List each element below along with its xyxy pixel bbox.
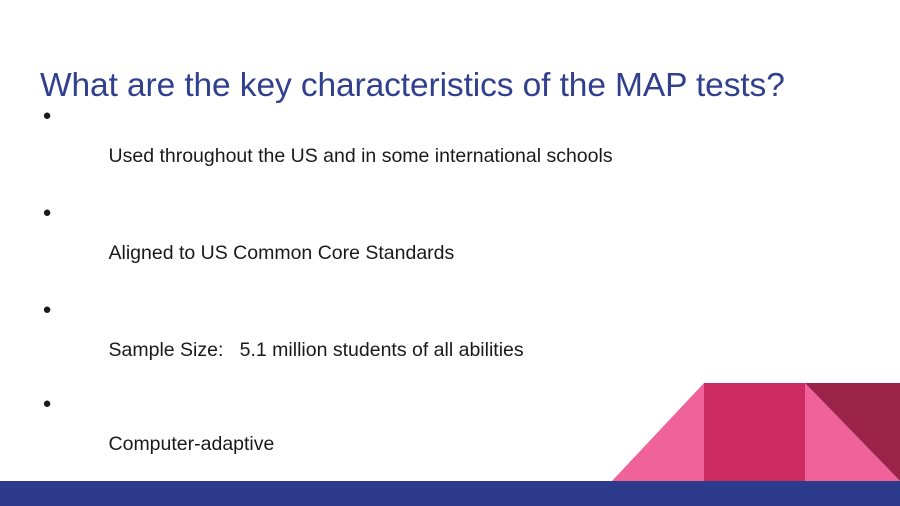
footer-accent-bar <box>0 481 900 506</box>
bullet-dot-icon: ● <box>40 108 54 123</box>
center-magenta-block <box>704 383 805 481</box>
list-item: ● Aligned to US Common Core Standards <box>36 205 796 283</box>
list-item-label: Used throughout the US and in some inter… <box>109 147 613 167</box>
page-title: What are the key characteristics of the … <box>40 68 870 105</box>
decoration-svg <box>612 383 900 481</box>
bullet-dot-icon: ● <box>40 396 54 411</box>
left-pink-triangle <box>612 383 704 481</box>
bullet-dot-icon: ● <box>40 205 54 220</box>
slide-canvas: What are the key characteristics of the … <box>0 0 900 506</box>
geometric-triangles-decoration <box>612 383 900 481</box>
list-item-label: Sample Size: 5.1 million students of all… <box>109 341 524 361</box>
bullet-dot-icon: ● <box>40 302 54 317</box>
list-item: ● Sample Size: 5.1 million students of a… <box>36 302 796 380</box>
list-item: ● Used throughout the US and in some int… <box>36 108 796 186</box>
list-item-label: Aligned to US Common Core Standards <box>109 244 455 264</box>
list-item-label: Computer-adaptive <box>109 435 275 455</box>
